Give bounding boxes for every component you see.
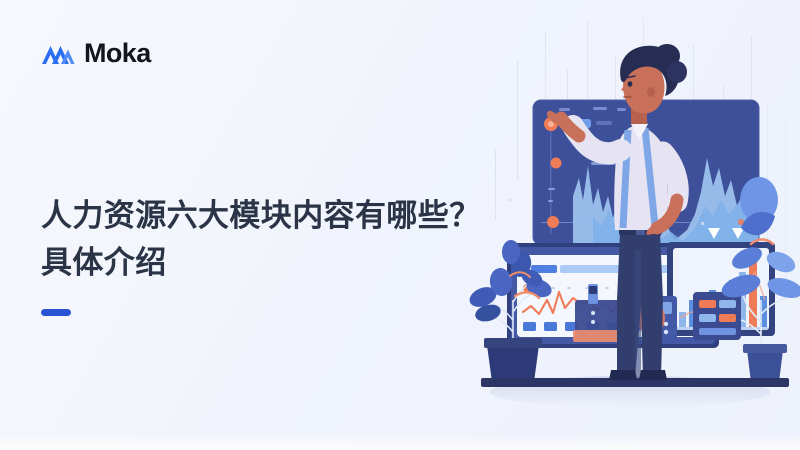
bottom-fade (0, 434, 800, 450)
poster-canvas: Moka 人力资源六大模块内容有哪些？ 具体介绍 (0, 0, 800, 450)
page-title: 人力资源六大模块内容有哪些？ 具体介绍 (41, 192, 561, 286)
page-title-line-1: 人力资源六大模块内容有哪些？ (41, 192, 561, 239)
title-accent-bar (41, 309, 71, 316)
brand-logo: Moka (41, 40, 151, 67)
brand-name: Moka (84, 40, 151, 67)
moka-mountain-logo-icon (41, 42, 75, 66)
page-title-line-2: 具体介绍 (41, 239, 561, 286)
